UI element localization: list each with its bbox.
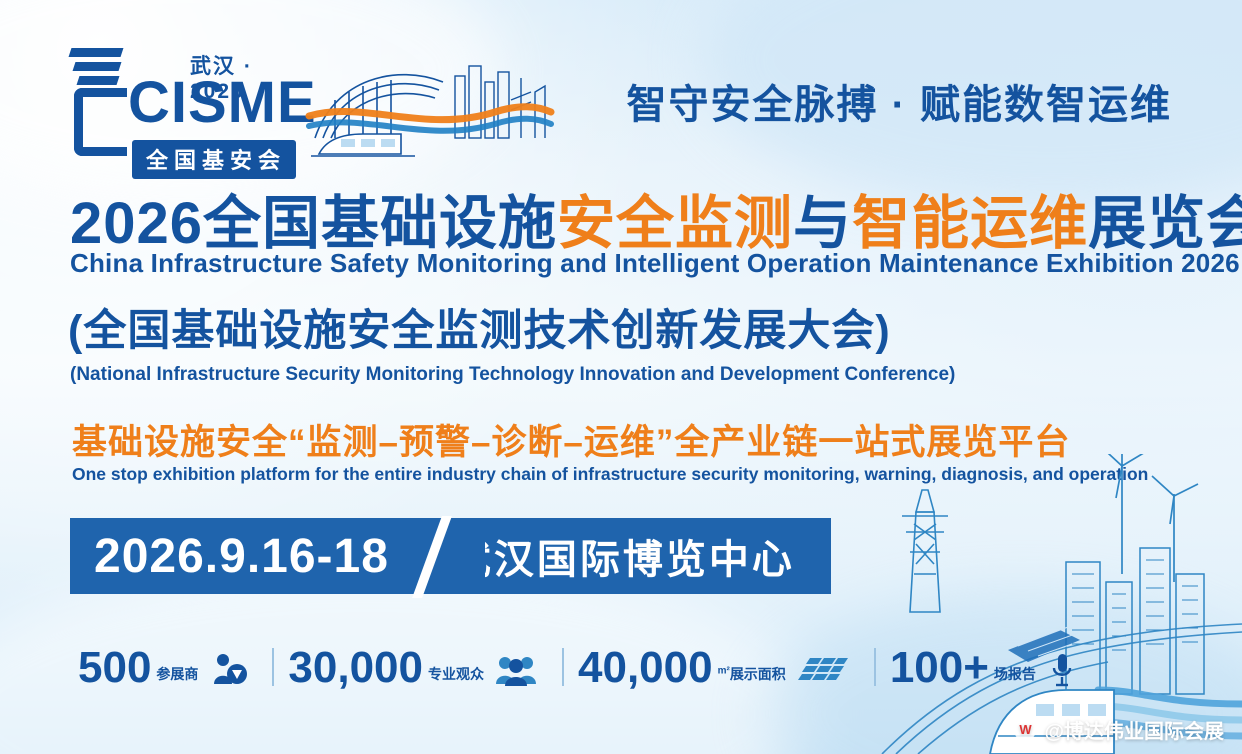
event-date: 2026.9.16-18 [70, 518, 415, 594]
stat-number: 30,000 [288, 646, 423, 690]
stat-label-text: 展示面积 [730, 666, 786, 682]
stat-reports: 100+ 场报告 [890, 646, 1086, 690]
visitors-icon [496, 654, 538, 688]
stat-area: 40,000 m²展示面积 [578, 646, 860, 690]
title-part: 2026全国基础设施 [70, 191, 557, 256]
stat-visitors: 30,000 专业观众 [288, 646, 548, 690]
weibo-icon: W [1014, 719, 1036, 741]
stat-label: 参展商 [156, 664, 198, 684]
area-icon [798, 652, 850, 688]
event-venue: 武汉国际博览中心 [451, 518, 831, 594]
exhibitor-icon [210, 650, 248, 688]
transmission-tower-icon [902, 490, 948, 612]
title-part: 展览会 [1088, 191, 1242, 256]
date-venue-banner: 2026.9.16-18 武汉国际博览中心 [70, 518, 831, 594]
stat-exhibitors: 500 参展商 [78, 646, 258, 690]
logo-acronym: CISME [128, 74, 317, 132]
cisme-logo: 武汉 · 2026 CISME 全国基安会 [70, 40, 300, 160]
infrastructure-scene-illustration-icon [822, 454, 1242, 754]
stat-label: 场报告 [994, 664, 1036, 684]
bridge-city-illustration-icon [305, 42, 555, 162]
exhibition-poster: 武汉 · 2026 CISME 全国基安会 [0, 0, 1242, 754]
train-icon [311, 134, 415, 156]
page-title-en: China Infrastructure Safety Monitoring a… [70, 248, 1240, 279]
stat-label: 专业观众 [428, 664, 484, 684]
banner-separator-decor [415, 518, 485, 594]
headline-slogan: 智守安全脉搏 · 赋能数智运维 [626, 72, 1172, 130]
stat-unit: m² [718, 665, 730, 676]
report-icon [1048, 652, 1076, 688]
title-part-accent: 智能运维 [852, 191, 1088, 256]
title-part: 与 [793, 191, 852, 256]
buildings-icon [1066, 548, 1204, 694]
stat-number: 40,000 [578, 646, 713, 690]
stat-label: m²展示面积 [718, 664, 786, 684]
watermark: W @博达伟业国际会展 [1014, 715, 1224, 744]
stat-divider [272, 648, 274, 686]
subtitle-en: (National Infrastructure Security Monito… [70, 364, 955, 386]
logo-mark-icon [70, 48, 122, 140]
subtitle-cn: (全国基础设施安全监测技术创新发展大会) [68, 296, 891, 358]
stat-number: 100+ [890, 646, 989, 690]
watermark-text: @博达伟业国际会展 [1044, 715, 1224, 744]
stat-number: 500 [78, 646, 151, 690]
wind-turbine-icon [1096, 454, 1198, 582]
stat-divider [562, 648, 564, 686]
logo-cn-short: 全国基安会 [132, 140, 296, 179]
stats-row: 500 参展商 30,000 专业观众 40,0 [78, 646, 1086, 690]
title-part-accent: 安全监测 [557, 191, 793, 256]
stat-divider [874, 648, 876, 686]
